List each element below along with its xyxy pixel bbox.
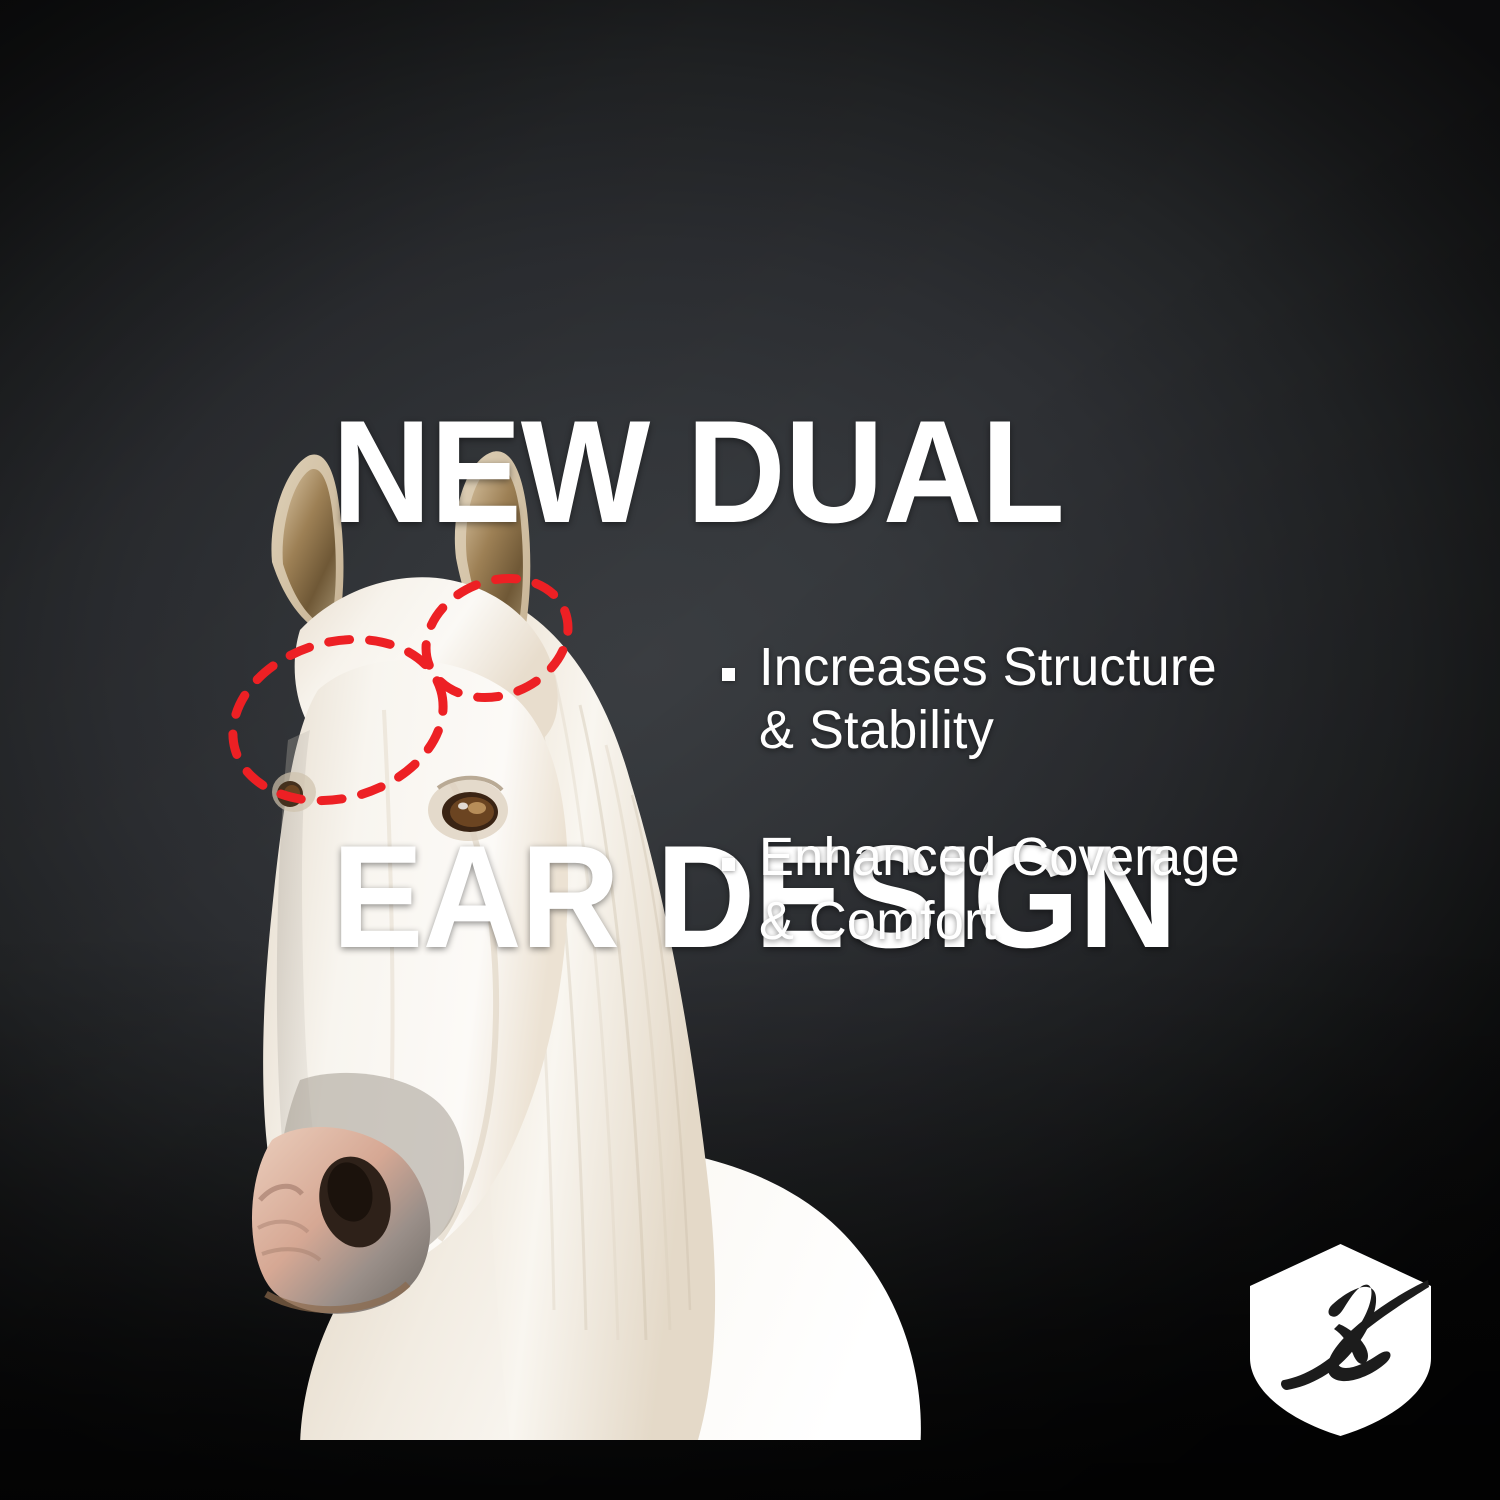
brand-logo	[1243, 1240, 1438, 1440]
list-item: Increases Structure & Stability	[722, 636, 1422, 762]
promo-banner: NEW DUAL EAR DESIGN Increases Structure …	[0, 0, 1500, 1500]
title-line-1: NEW DUAL	[332, 401, 1225, 543]
square-bullet-icon	[722, 858, 735, 871]
list-item: Enhanced Coverage & Comfort	[722, 826, 1422, 952]
square-bullet-icon	[722, 668, 735, 681]
feature-list: Increases Structure & Stability Enhanced…	[722, 636, 1422, 953]
feature-text: Increases Structure & Stability	[759, 636, 1217, 762]
shield-shape	[1250, 1244, 1431, 1436]
feature-text: Enhanced Coverage & Comfort	[759, 826, 1240, 952]
